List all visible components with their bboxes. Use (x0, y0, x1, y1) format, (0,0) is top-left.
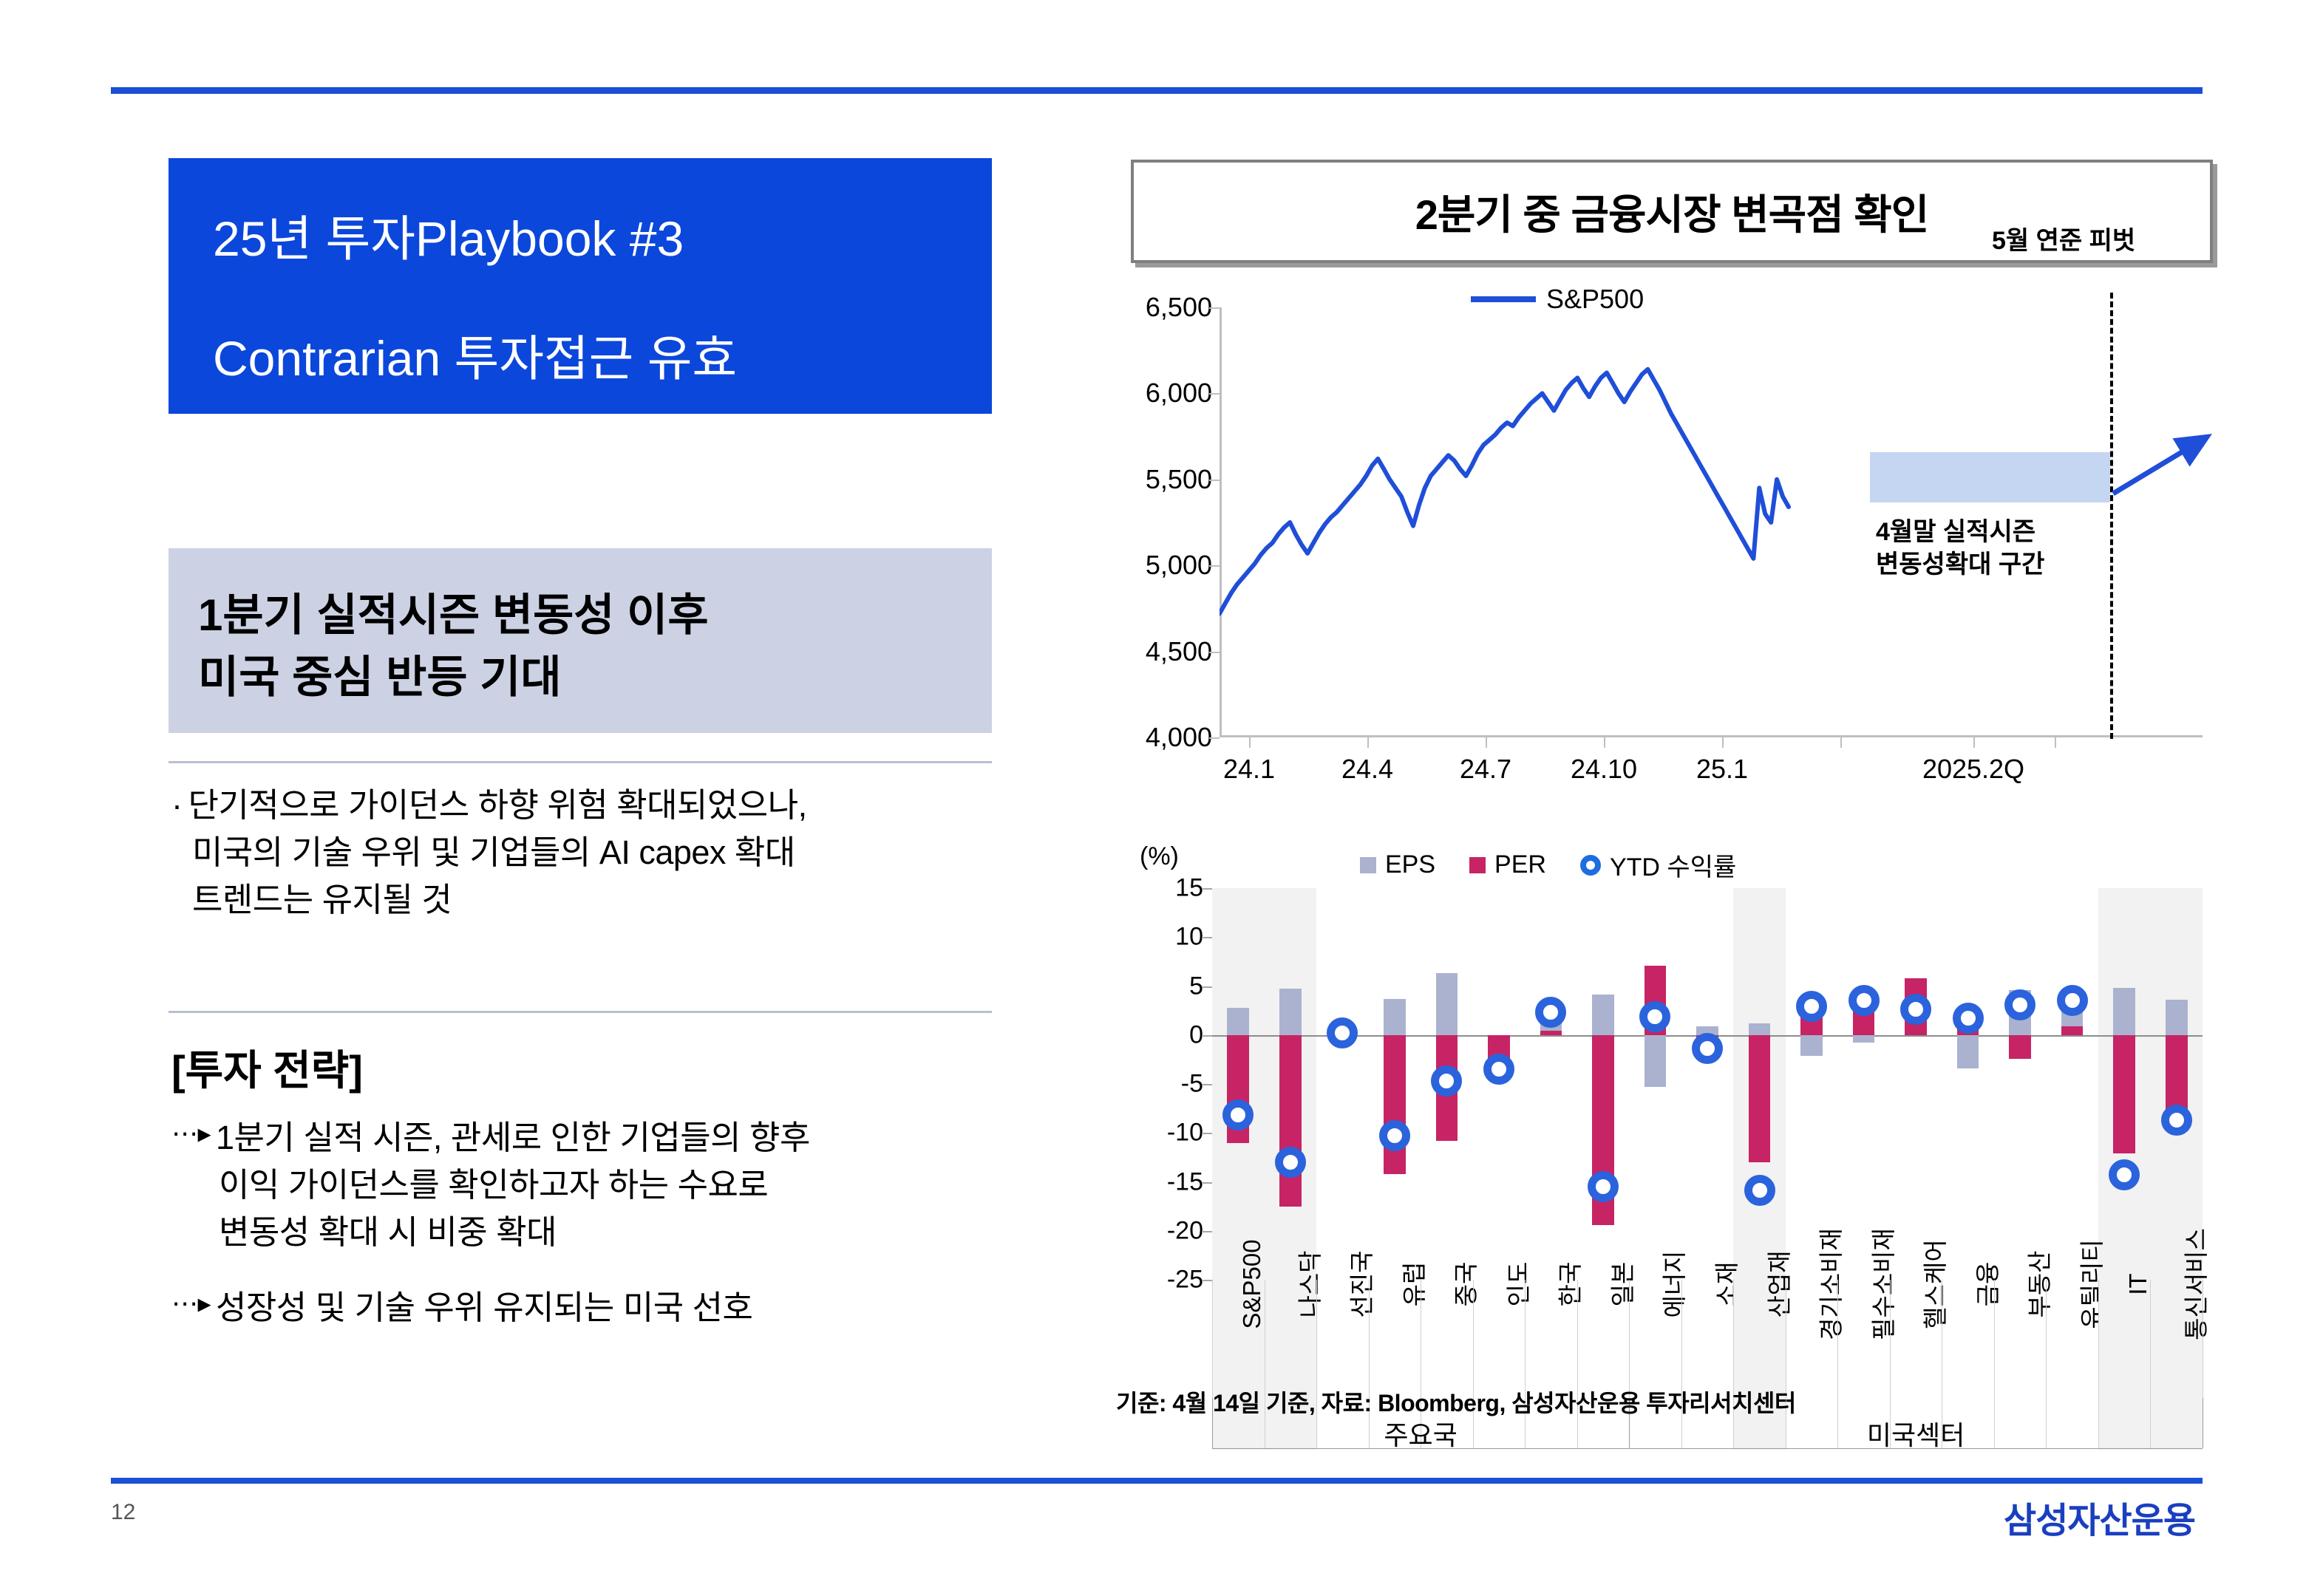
line-chart-x-axis-labels: 24.124.424.724.1025.12025.2Q (1220, 754, 2203, 798)
line-x-tick (1840, 737, 1842, 748)
category-cell: S&P500 (1212, 1280, 1265, 1450)
category-divider (1733, 1280, 1734, 1448)
category-label: IT (2124, 1273, 2152, 1295)
bar-eps (1957, 1035, 1979, 1068)
category-cell: 소재 (1681, 1280, 1734, 1450)
page-number: 12 (111, 1500, 135, 1525)
line-x-tick (2055, 737, 2056, 748)
bar-y-tick (1202, 937, 1212, 938)
category-cell: 부동산 (1994, 1280, 2047, 1450)
bar-y-tick (1202, 1280, 1212, 1281)
ytd-return-marker (1744, 1175, 1775, 1206)
category-divider (1837, 1280, 1838, 1448)
category-cell: 일본 (1577, 1280, 1630, 1450)
footer-rule (111, 1478, 2203, 1484)
line-y-tick-label: 5,500 (1146, 464, 1212, 495)
line-x-tick-label: 2025.2Q (1922, 754, 2024, 785)
category-divider (1473, 1280, 1474, 1448)
eps-legend-swatch (1360, 857, 1376, 873)
line-y-tick (1209, 393, 1220, 395)
line-y-tick (1209, 565, 1220, 567)
sp500-legend-swatch (1471, 296, 1536, 302)
ytd-return-marker (2057, 985, 2088, 1016)
legend-eps: EPS (1360, 850, 1435, 879)
bar-y-tick-label: -5 (1181, 1070, 1203, 1099)
bar-y-tick-label: -15 (1167, 1167, 1203, 1196)
line-x-tick-label: 24.1 (1223, 754, 1275, 785)
subheading-line-2: 미국 중심 반등 기대 (198, 641, 562, 706)
category-cell: 산업재 (1733, 1280, 1786, 1450)
category-cell: 한국 (1525, 1280, 1577, 1450)
strategy-2-line-1: 성장성 및 기술 우위 유지되는 미국 선호 (216, 1289, 752, 1326)
title-box: 25년 투자Playbook #3 Contrarian 투자접근 유효 (169, 158, 992, 414)
ytd-return-marker (1953, 1003, 1984, 1034)
category-divider (1786, 1280, 1786, 1448)
category-divider (1265, 1280, 1265, 1448)
bar-y-tick (1202, 986, 1212, 988)
line-x-tick-label: 24.4 (1341, 754, 1393, 785)
line-chart-plot-area: 5월 연준 피벗 4월말 실적시즌 변동성확대 구간 (1220, 307, 2203, 737)
bar-eps (2113, 988, 2135, 1035)
body-paragraph: ·단기적으로 가이던스 하향 위험 확대되었으나, 미국의 기술 우위 및 기업… (171, 782, 1014, 924)
ytd-legend-marker (1580, 855, 1601, 876)
bar-chart-legend: EPS PER YTD 수익률 (1360, 847, 1736, 883)
bar-y-tick (1202, 1035, 1212, 1037)
bar-y-tick-label: -20 (1167, 1216, 1203, 1245)
category-divider (1369, 1280, 1370, 1448)
category-divider (1994, 1280, 1995, 1448)
body-line-2: 미국의 기술 우위 및 기업들의 AI capex 확대 (171, 829, 1014, 876)
ytd-return-marker (1379, 1120, 1410, 1151)
line-y-tick (1209, 480, 1220, 481)
bar-per (2113, 1035, 2135, 1153)
eps-legend-label: EPS (1385, 850, 1435, 879)
line-x-tick (1722, 737, 1724, 748)
bar-per (1384, 1035, 1406, 1174)
category-cell: 나스닥 (1265, 1280, 1317, 1450)
bar-eps (1749, 1023, 1771, 1035)
bar-chart-category-axis: S&P500나스닥선진국유럽중국인도한국일본에너지소재산업재경기소비재필수소비재… (1212, 1280, 2203, 1472)
bar-eps (1853, 1035, 1875, 1043)
title-line-1: 25년 투자Playbook #3 (213, 199, 684, 270)
bar-y-tick (1202, 1084, 1212, 1085)
line-y-tick (1209, 737, 1220, 739)
category-divider (1681, 1280, 1682, 1448)
earnings-vol-annotation: 4월말 실적시즌 변동성확대 구간 (1876, 516, 2044, 581)
bar-per (1540, 1031, 1562, 1034)
bar-per (2009, 1035, 2031, 1059)
ytd-return-marker (2004, 989, 2035, 1020)
bar-per (1279, 1035, 1302, 1207)
line-y-tick-label: 4,500 (1146, 636, 1212, 667)
subheading-box: 1분기 실적시즌 변동성 이후 미국 중심 반등 기대 (169, 548, 992, 733)
line-x-tick-label: 24.10 (1571, 754, 1637, 785)
bar-eps (1384, 999, 1406, 1035)
bar-eps (2166, 1000, 2188, 1035)
ytd-return-marker (1483, 1054, 1514, 1085)
ytd-return-marker (1692, 1033, 1723, 1064)
bar-eps (1279, 989, 1302, 1034)
group-bracket (2203, 1398, 2203, 1448)
bar-y-tick (1202, 1133, 1212, 1134)
line-x-tick-label: 24.7 (1460, 754, 1511, 785)
body-line-1: 단기적으로 가이던스 하향 위험 확대되었으나, (188, 786, 807, 824)
bar-y-tick-label: -25 (1167, 1266, 1203, 1295)
category-cell: 에너지 (1629, 1280, 1681, 1450)
brand-logo: 삼성자산운용 (2004, 1491, 2195, 1543)
category-cell: 인도 (1473, 1280, 1526, 1450)
header-rule (111, 87, 2203, 94)
bullet-dot: · (171, 786, 183, 824)
bar-y-tick-label: -10 (1167, 1119, 1203, 1147)
strategy-1-line-1: 1분기 실적 시즌, 관세로 인한 기업들의 향후 (216, 1119, 810, 1156)
fed-pivot-dashed-line (2110, 293, 2113, 739)
arrow-bullet-icon: ⋯▸ (171, 1114, 216, 1152)
per-legend-label: PER (1494, 850, 1546, 879)
category-label: S&P500 (1238, 1239, 1266, 1329)
category-divider (2098, 1280, 2099, 1448)
category-cell: IT (2098, 1280, 2151, 1450)
category-divider (2046, 1280, 2047, 1448)
legend-ytd: YTD 수익률 (1580, 847, 1736, 883)
body-line-3: 트렌드는 유지될 것 (171, 876, 1014, 924)
bar-eps (1227, 1008, 1249, 1035)
ytd-return-marker (1327, 1017, 1358, 1048)
legend-per: PER (1469, 850, 1546, 879)
group-label: 미국섹터 (1867, 1414, 1965, 1453)
bar-per (2061, 1026, 2084, 1035)
ytd-return-marker (1275, 1147, 1306, 1178)
category-label: 통신서비스 (2177, 1228, 2212, 1340)
line-y-tick-label: 6,000 (1146, 378, 1212, 409)
line-x-tick (1249, 737, 1251, 748)
fed-pivot-annotation: 5월 연준 피벗 (1992, 225, 2135, 257)
line-y-tick-label: 5,000 (1146, 550, 1212, 581)
line-y-tick-label: 4,000 (1146, 722, 1212, 753)
strategy-item-1: ⋯▸ 1분기 실적 시즌, 관세로 인한 기업들의 향후 이익 가이던스를 확인… (171, 1114, 1029, 1256)
ytd-return-marker (1588, 1171, 1619, 1202)
bar-y-tick (1202, 1231, 1212, 1232)
category-divider (1316, 1280, 1317, 1448)
group-label: 주요국 (1384, 1414, 1457, 1453)
bar-eps (1800, 1035, 1823, 1056)
strategy-heading: [투자 전략] (171, 1037, 363, 1097)
divider-upper (169, 761, 992, 763)
line-chart: S&P500 4,0004,5005,0005,5006,0006,500 5월… (1116, 281, 2225, 828)
bar-y-tick (1202, 888, 1212, 890)
earnings-vol-line-1: 4월말 실적시즌 (1876, 516, 2044, 548)
category-cell: 선진국 (1316, 1280, 1369, 1450)
bar-chart-y-axis: 151050-5-10-15-20-25 (1116, 842, 1203, 1330)
volatility-band (1870, 452, 2110, 502)
line-chart-y-axis: 4,0004,5005,0005,5006,0006,500 (1116, 281, 1212, 828)
ytd-return-marker (1639, 1001, 1670, 1032)
title-line-2: Contrarian 투자접근 유효 (213, 319, 737, 390)
bar-chart-plot-area (1212, 888, 2203, 1280)
strategy-1-line-2: 이익 가이던스를 확인하고자 하는 수요로 (216, 1162, 999, 1209)
line-x-tick (1486, 737, 1487, 748)
line-x-tick-label: 25.1 (1696, 754, 1748, 785)
slide-root: 25년 투자Playbook #3 Contrarian 투자접근 유효 1분기… (0, 0, 2306, 1596)
line-y-tick-label: 6,500 (1146, 292, 1212, 323)
per-legend-swatch (1469, 857, 1486, 873)
sp500-line-series (1220, 307, 2203, 737)
ytd-return-marker (1848, 985, 1880, 1016)
bar-y-tick (1202, 1182, 1212, 1184)
bar-y-tick-label: 10 (1175, 923, 1203, 952)
line-x-tick (1367, 737, 1369, 748)
strategy-1-line-3: 변동성 확대 시 비중 확대 (216, 1209, 999, 1256)
divider-lower (169, 1011, 992, 1013)
bar-per (1749, 1035, 1771, 1162)
bar-chart: (%) EPS PER YTD 수익률 151050-5-10-15-20-25… (1116, 842, 2232, 1426)
strategy-item-2: ⋯▸ 성장성 및 기술 우위 유지되는 미국 선호 (171, 1284, 1029, 1331)
category-divider (2150, 1280, 2151, 1448)
line-y-tick (1209, 652, 1220, 653)
category-cell: 유틸리티 (2046, 1280, 2098, 1450)
source-note: 기준: 4월 14일 기준, 자료: Bloomberg, 삼성자산운용 투자리… (1116, 1385, 1796, 1419)
chart-title: 2분기 중 금융시장 변곡점 확인 (1415, 182, 1929, 242)
uptrend-arrow-icon (2110, 426, 2221, 507)
category-cell: 통신서비스 (2150, 1280, 2203, 1450)
ytd-legend-label: YTD 수익률 (1610, 847, 1736, 883)
bar-eps (1592, 995, 1614, 1034)
category-cell: 경기소비재 (1786, 1280, 1838, 1450)
earnings-vol-line-2: 변동성확대 구간 (1876, 548, 2044, 581)
bar-eps (1436, 973, 1458, 1034)
line-y-tick (1209, 307, 1220, 309)
category-divider (1525, 1280, 1526, 1448)
bar-y-tick-label: 15 (1175, 874, 1203, 903)
ytd-return-marker (2161, 1105, 2192, 1136)
arrow-bullet-icon: ⋯▸ (171, 1284, 216, 1322)
line-x-tick (1604, 737, 1605, 748)
category-divider (1577, 1280, 1578, 1448)
line-x-tick (1973, 737, 1975, 748)
subheading-line-1: 1분기 실적시즌 변동성 이후 (198, 579, 709, 644)
bar-eps (1645, 1035, 1667, 1087)
